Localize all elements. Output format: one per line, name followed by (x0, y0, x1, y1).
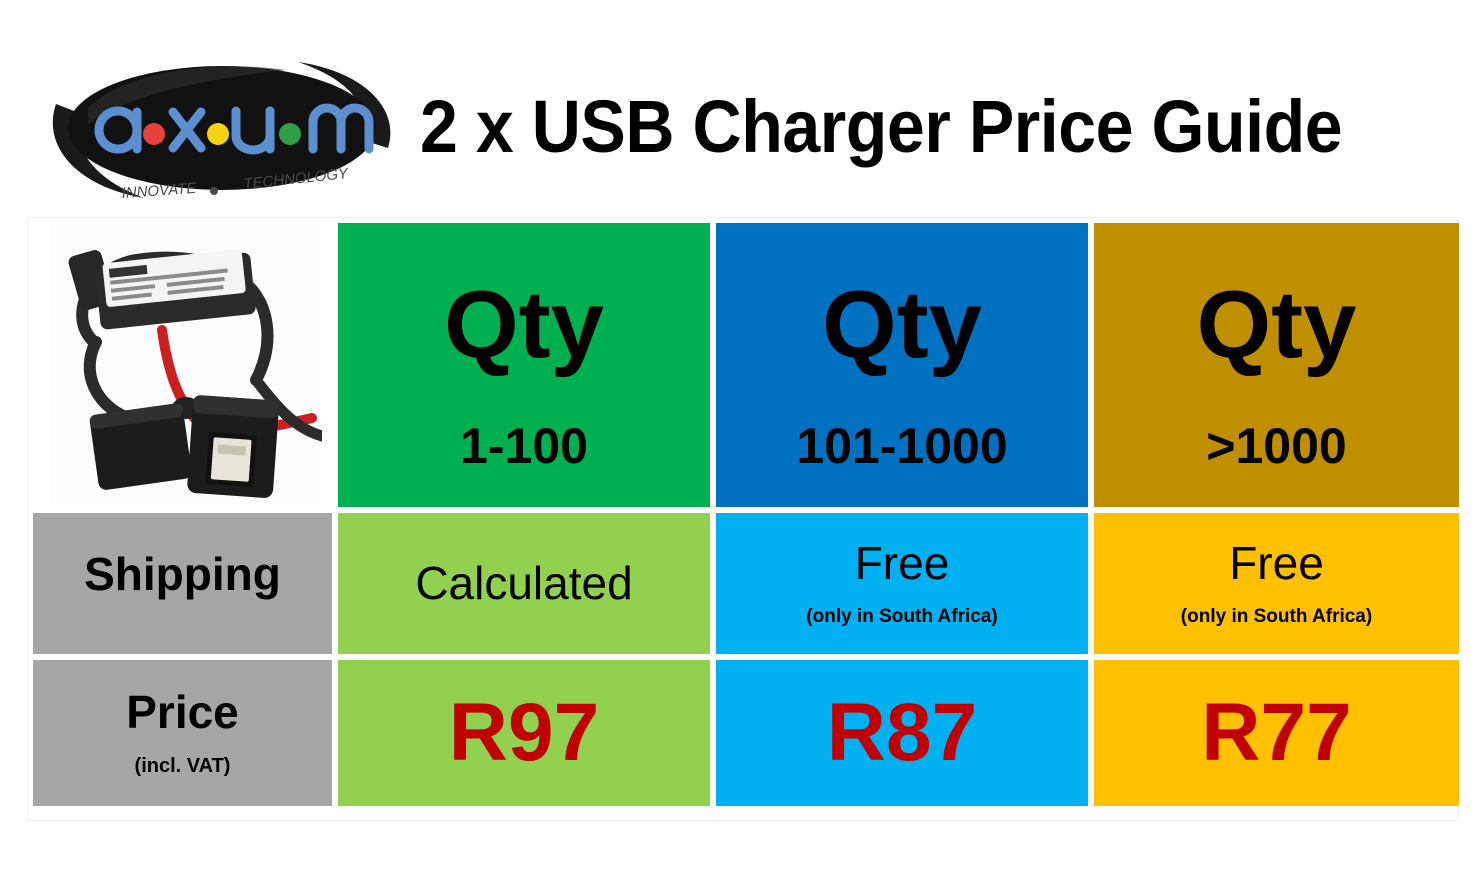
qty-range-3: >1000 (1206, 421, 1346, 471)
qty-label-2: Qty (822, 277, 982, 373)
axum-logo: INNOVATE TECHNOLOGY (36, 52, 406, 207)
logo-dot-yellow (207, 123, 229, 145)
price-label: Price (126, 688, 239, 736)
shipping-value-1: Calculated (415, 559, 632, 607)
qty-label-3: Qty (1196, 277, 1356, 373)
price-guide-page: INNOVATE TECHNOLOGY 2 x USB Charger Pric… (0, 0, 1484, 895)
shipping-note-2: (only in South Africa) (806, 606, 997, 628)
price-cell-1: R97 (338, 660, 710, 806)
page-title: 2 x USB Charger Price Guide (420, 84, 1377, 169)
qty-range-1: 1-100 (460, 421, 588, 471)
row-label-price: Price (incl. VAT) (33, 660, 332, 806)
price-label-sub: (incl. VAT) (135, 755, 231, 778)
price-cell-2: R87 (716, 660, 1088, 806)
logo-tagline-dot (210, 187, 218, 195)
price-cell-3: R77 (1094, 660, 1459, 806)
shipping-cell-2: Free (only in South Africa) (716, 513, 1088, 654)
qty-header-cell-3: Qty >1000 (1094, 223, 1459, 507)
shipping-label: Shipping (84, 550, 281, 598)
qty-label-1: Qty (444, 277, 604, 373)
shipping-value-3: Free (1229, 539, 1324, 587)
logo-tagline-left: INNOVATE (121, 180, 198, 202)
qty-header-cell-2: Qty 101-1000 (716, 223, 1088, 507)
logo-dot-green (279, 123, 301, 145)
page-header: INNOVATE TECHNOLOGY 2 x USB Charger Pric… (0, 0, 1484, 215)
shipping-cell-3: Free (only in South Africa) (1094, 513, 1459, 654)
qty-header-cell-1: Qty 1-100 (338, 223, 710, 507)
price-value-3: R77 (1201, 692, 1351, 774)
logo-dot-red (143, 123, 165, 145)
shipping-value-2: Free (855, 539, 950, 587)
price-table: Qty 1-100 Qty 101-1000 Qty >1000 Shippin… (27, 217, 1459, 821)
product-photo (50, 222, 322, 505)
row-label-shipping: Shipping (33, 513, 332, 654)
qty-range-2: 101-1000 (796, 421, 1007, 471)
price-value-2: R87 (827, 692, 977, 774)
price-value-1: R97 (449, 692, 599, 774)
shipping-cell-1: Calculated (338, 513, 710, 654)
shipping-note-3: (only in South Africa) (1181, 606, 1372, 628)
product-photo-cell (30, 220, 335, 510)
